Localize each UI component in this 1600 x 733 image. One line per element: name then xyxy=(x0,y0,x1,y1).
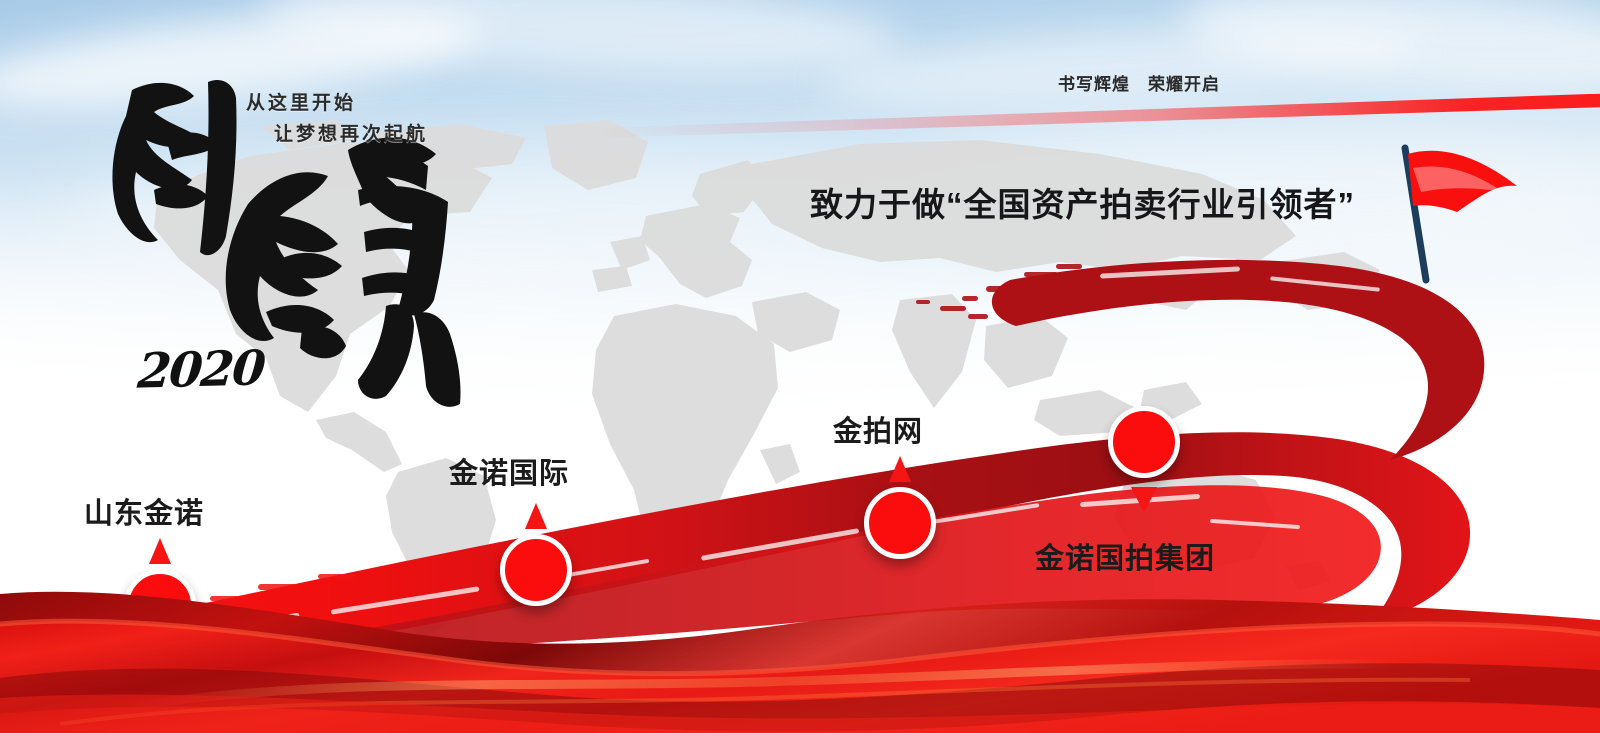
poster-canvas: 书写辉煌 荣耀开启 xyxy=(0,0,1600,733)
main-slogan: 致力于做“全国资产拍卖行业引领者” xyxy=(810,178,1355,226)
arrow-up-icon xyxy=(525,503,547,529)
red-circle-marker-icon[interactable] xyxy=(1108,406,1180,478)
tagline-line-1: 从这里开始 xyxy=(246,93,356,114)
arrow-up-icon xyxy=(889,456,911,482)
red-flag-icon xyxy=(1385,140,1535,290)
top-slogan: 书写辉煌 荣耀开启 xyxy=(1058,70,1220,95)
milestone-label: 金拍网 xyxy=(833,408,923,450)
arrow-down-icon xyxy=(1131,487,1157,513)
milestone-label: 金诺国际 xyxy=(449,450,569,492)
milestone-label: 山东金诺 xyxy=(84,490,204,532)
red-circle-marker-icon[interactable] xyxy=(864,487,936,559)
red-silk-ribbon-icon xyxy=(0,558,1600,733)
calligraphy-tagline: 从这里开始 让梦想再次起航 xyxy=(246,88,428,150)
tagline-line-2: 让梦想再次起航 xyxy=(246,119,428,150)
